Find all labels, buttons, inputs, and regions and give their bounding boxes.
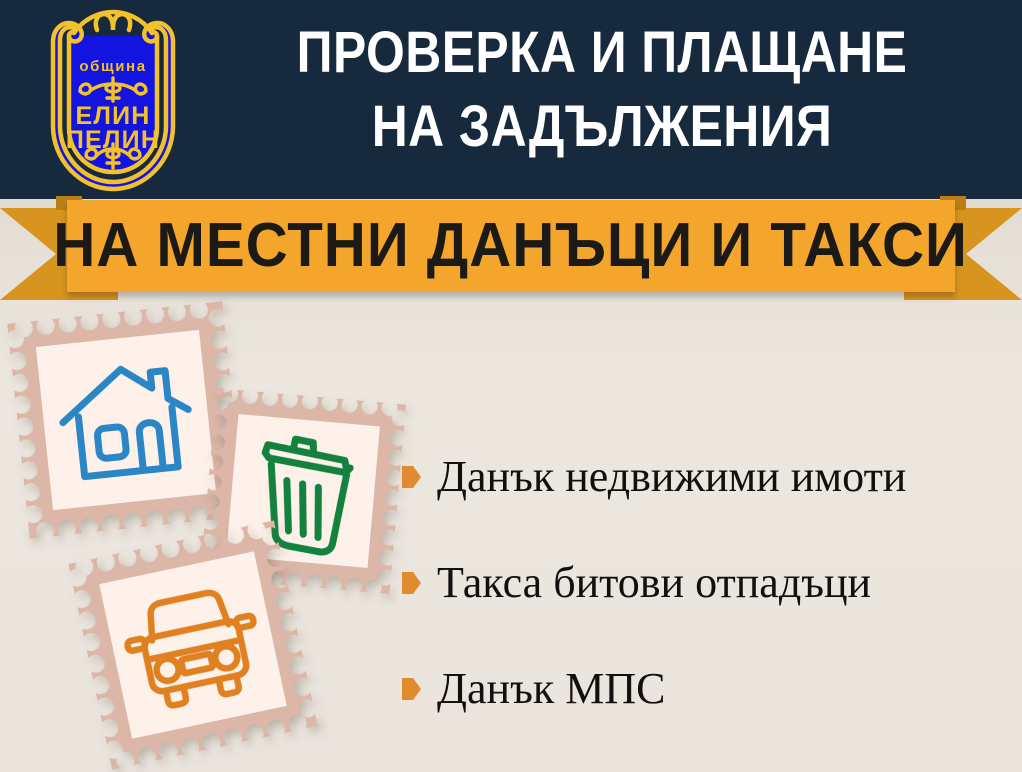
list-item-label: Такса битови отпадъци xyxy=(437,559,871,607)
list-item[interactable]: Данък недвижими имоти xyxy=(402,424,1022,530)
ribbon-text: НА МЕСТНИ ДАНЪЦИ И ТАКСИ xyxy=(54,215,969,277)
bullet-arrow-icon xyxy=(402,572,421,594)
list-item-label: Данък МПС xyxy=(437,665,665,713)
page-title-line-2: НА ЗАДЪЛЖЕНИЯ xyxy=(253,90,951,164)
stamp-vehicle xyxy=(68,520,317,769)
municipality-logo: община ЕЛИН ПЕЛИН xyxy=(22,6,204,194)
list-item[interactable]: Данък МПС xyxy=(402,636,1022,742)
poster-canvas: община ЕЛИН ПЕЛИН xyxy=(0,0,1022,772)
tax-type-list: Данък недвижими имоти Такса битови отпад… xyxy=(402,424,1022,742)
list-item[interactable]: Такса битови отпадъци xyxy=(402,530,1022,636)
page-title: ПРОВЕРКА И ПЛАЩАНЕ НА ЗАДЪЛЖЕНИЯ xyxy=(253,16,951,164)
logo-word-top: община xyxy=(79,58,146,75)
subtitle-ribbon: НА МЕСТНИ ДАНЪЦИ И ТАКСИ xyxy=(0,196,1022,312)
list-item-label: Данък недвижими имоти xyxy=(437,453,906,501)
ribbon-banner: НА МЕСТНИ ДАНЪЦИ И ТАКСИ xyxy=(67,200,955,292)
page-title-line-1: ПРОВЕРКА И ПЛАЩАНЕ xyxy=(253,16,951,90)
bullet-arrow-icon xyxy=(402,466,421,488)
bullet-arrow-icon xyxy=(402,678,421,700)
